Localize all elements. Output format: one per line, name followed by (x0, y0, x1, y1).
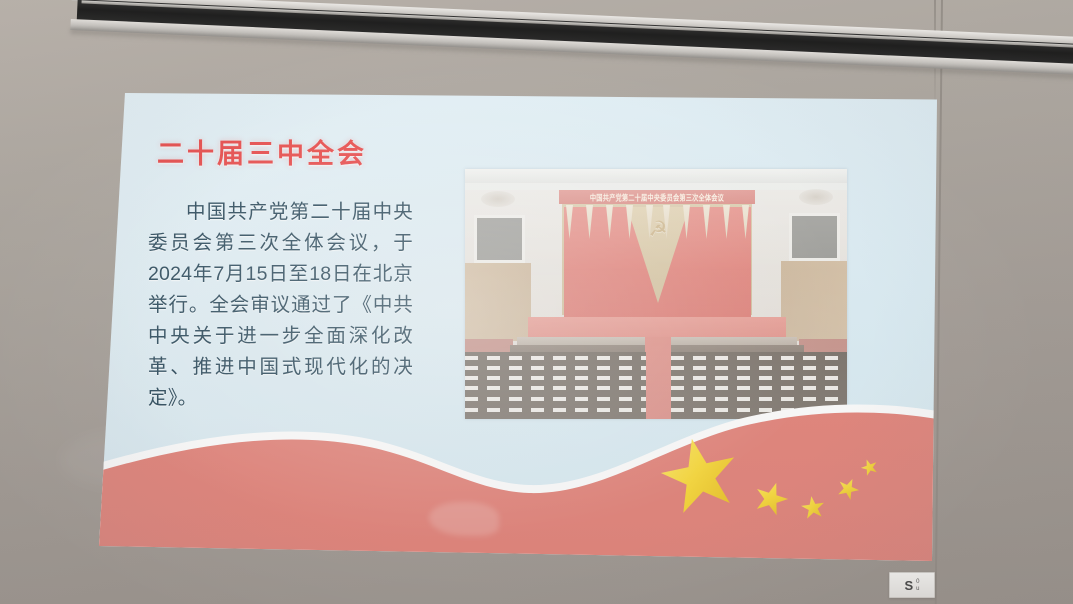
sticker-line-2: u (916, 586, 919, 592)
flag-tip (586, 205, 593, 239)
photo-banner-text: 中国共产党第二十届中央委员会第三次全体会议 (590, 191, 724, 202)
seat-row (465, 366, 646, 370)
flag-tip (626, 205, 633, 239)
wave-shapes (99, 397, 937, 562)
photo-flag-tips (564, 205, 751, 241)
photo-door-left (474, 215, 525, 263)
sticker-glyph: S (904, 579, 913, 592)
photo-stage-banner: 中国共产党第二十届中央委员会第三次全体会议 (559, 190, 755, 204)
seat-row (671, 376, 847, 380)
flag-tip (703, 205, 710, 239)
slide-body-text: 中国共产党第二十届中央委员会第三次全体会议，于2024年7月15日至18日在北京… (148, 197, 413, 414)
flag-tip (742, 205, 749, 239)
photo-wall-medallion-right (799, 189, 833, 205)
seat-row (671, 356, 847, 360)
photo-stage-platform (528, 317, 786, 339)
flag-tip (723, 205, 730, 239)
photo-ceiling (465, 169, 847, 184)
seat-row (671, 386, 847, 390)
seat-row (465, 386, 646, 390)
photo-side-panel-left (465, 263, 531, 341)
photo-ceiling-band (465, 183, 847, 190)
seat-row (671, 366, 847, 370)
flag-tip (646, 205, 653, 239)
projected-slide-area[interactable]: 二十届三中全会 中国共产党第二十届中央委员会第三次全体会议，于2024年7月15… (99, 92, 937, 562)
wall-label-sticker: S 0 u (889, 572, 935, 598)
photo-door-right (789, 213, 840, 261)
flag-tip (606, 205, 613, 239)
seat-row (465, 376, 646, 380)
photo-wall-medallion-left (481, 191, 515, 207)
presentation-slide[interactable]: 二十届三中全会 中国共产党第二十届中央委员会第三次全体会议，于2024年7月15… (99, 92, 937, 562)
flag-tip (663, 205, 670, 239)
classroom-scene: Redleaf 二十届三中全会 中国共产党第二十届中央委员会第三次全体会议，于2… (0, 0, 1073, 604)
photo-side-panel-right (781, 261, 847, 341)
slide-title: 二十届三中全会 (157, 132, 367, 171)
seat-row (465, 356, 646, 360)
flag-tip (566, 205, 573, 239)
plenary-session-photo: 中国共产党第二十届中央委员会第三次全体会议 ☭ (465, 169, 847, 419)
sticker-sub-lines: 0 u (916, 579, 919, 592)
sticker-line-1: 0 (916, 579, 919, 585)
slide-wave-decoration (99, 397, 937, 562)
flag-tip (683, 205, 690, 239)
